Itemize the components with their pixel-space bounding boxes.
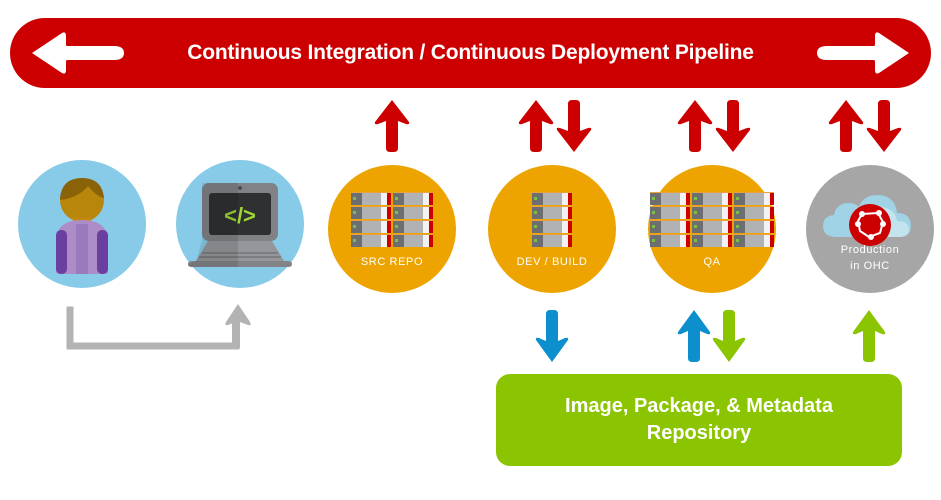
rack-unit [532,234,572,247]
rack-unit [692,192,732,205]
rack-unit [650,206,690,219]
node-src-repo[interactable]: SRC REPO [328,165,456,293]
laptop-code-icon: </> [188,181,292,267]
server-rack-icon-qa [650,192,774,247]
arrow-down-qa-repo [712,310,746,362]
rack-unit [734,206,774,219]
pipeline-title: Continuous Integration / Continuous Depl… [10,18,931,88]
node-label-dev-build: DEV / BUILD [488,255,616,269]
rack-unit [393,234,433,247]
rack-column [393,192,433,247]
arrow-down-qa [715,100,751,152]
node-developer[interactable] [18,160,146,288]
rack-unit [734,234,774,247]
rack-unit [351,220,391,233]
node-label-qa: QA [648,255,776,269]
rack-unit [650,234,690,247]
rack-column [650,192,690,247]
rack-unit [393,192,433,205]
node-label-production-line1: Production [806,243,934,257]
pipeline-banner: Continuous Integration / Continuous Depl… [10,18,931,88]
rack-column [351,192,391,247]
rack-unit [532,220,572,233]
node-label-production-line2: in OHC [806,259,934,273]
rack-column [734,192,774,247]
arrow-up-production-repo [852,310,886,362]
server-rack-icon-dev-build [532,192,572,247]
rack-unit [734,220,774,233]
rack-unit [734,192,774,205]
arrow-down-dev-build [556,100,592,152]
person-icon [42,174,122,274]
node-label-src-repo: SRC REPO [328,255,456,269]
arrow-up-src-repo [374,100,410,152]
repository-label-line2: Repository [565,420,833,447]
server-rack-icon-src-repo [351,192,433,247]
rack-column [532,192,572,247]
rack-unit [650,192,690,205]
arrow-up-qa-repo [677,310,711,362]
rack-unit [532,206,572,219]
arrow-down-dev-build-repo [535,310,569,362]
arrow-down-production [866,100,902,152]
rack-unit [393,206,433,219]
node-dev-build[interactable]: DEV / BUILD [488,165,616,293]
arrow-up-dev-build [518,100,554,152]
rack-unit [650,220,690,233]
rack-column [692,192,732,247]
repository-label-line1: Image, Package, & Metadata [565,393,833,420]
rack-unit [532,192,572,205]
node-code[interactable]: </> [176,160,304,288]
arrow-right-icon [817,32,909,74]
rack-unit [692,234,732,247]
rack-unit [351,192,391,205]
rack-unit [351,206,391,219]
cicd-pipeline-diagram: Continuous Integration / Continuous Depl… [0,0,941,500]
node-qa[interactable]: QA [648,165,776,293]
arrow-up-production [828,100,864,152]
rack-unit [351,234,391,247]
repository-box[interactable]: Image, Package, & Metadata Repository [496,374,902,466]
loop-arrow-icon [60,300,280,360]
rack-unit [393,220,433,233]
rack-unit [692,206,732,219]
rack-unit [692,220,732,233]
arrow-up-qa [677,100,713,152]
node-production[interactable]: Production in OHC [806,165,934,293]
